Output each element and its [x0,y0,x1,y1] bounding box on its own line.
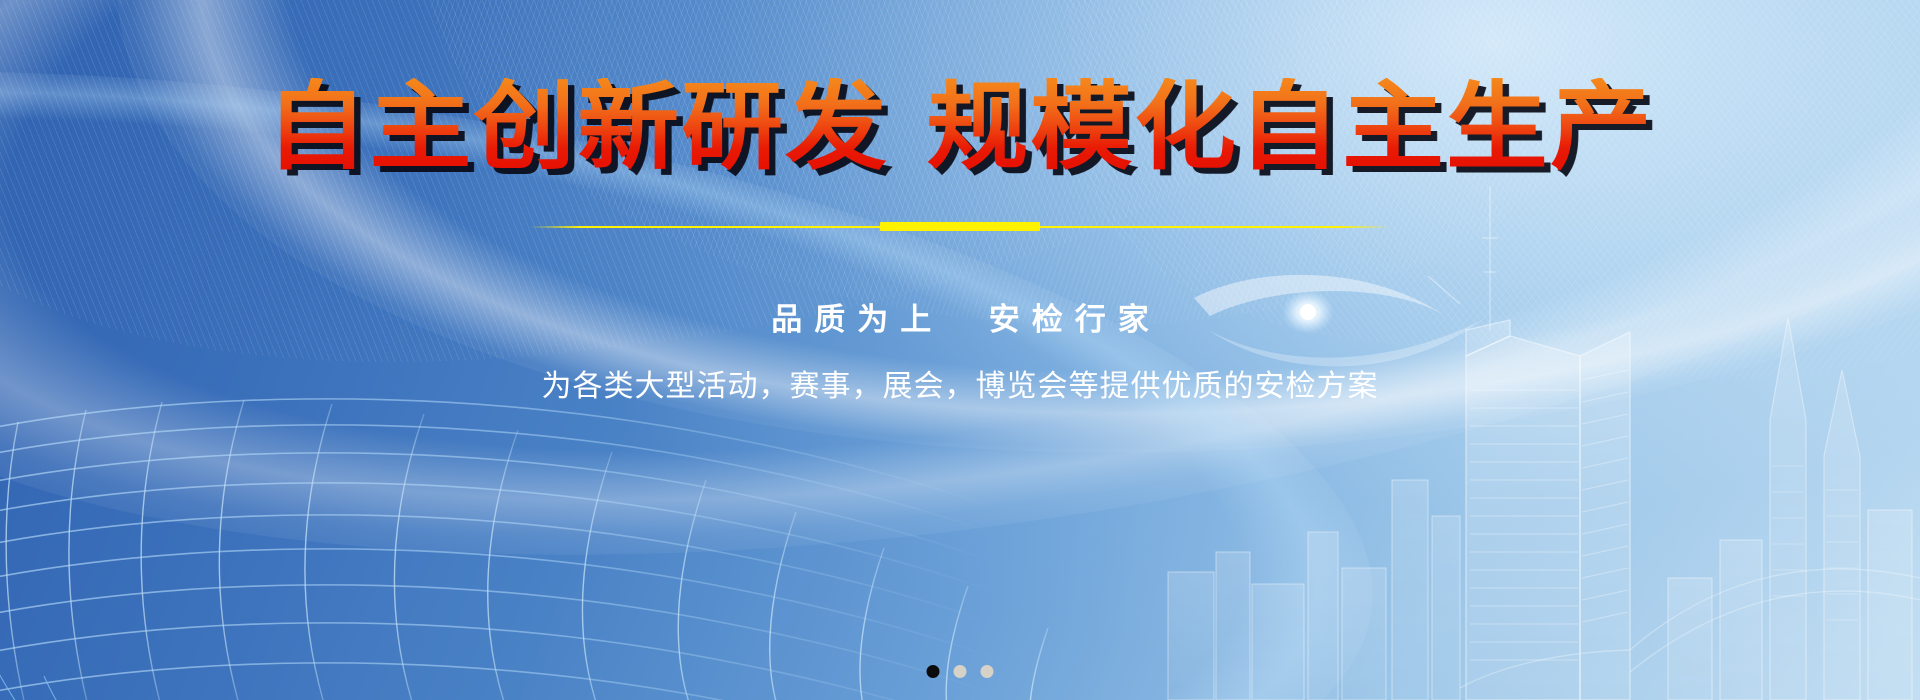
subtitle-primary: 品质为上 安检行家 [759,294,1161,339]
divider-knob [880,222,1040,231]
banner-content: 自主创新研发 规模化自主生产 品质为上 安检行家 为各类大型活动，赛事，展会，博… [0,0,1920,700]
page-title: 自主创新研发 规模化自主生产 [266,78,1654,178]
subtitle-secondary: 为各类大型活动，赛事，展会，博览会等提供优质的安检方案 [542,361,1379,405]
divider [530,222,1390,232]
hero-banner: 自主创新研发 规模化自主生产 品质为上 安检行家 为各类大型活动，赛事，展会，博… [0,0,1920,700]
